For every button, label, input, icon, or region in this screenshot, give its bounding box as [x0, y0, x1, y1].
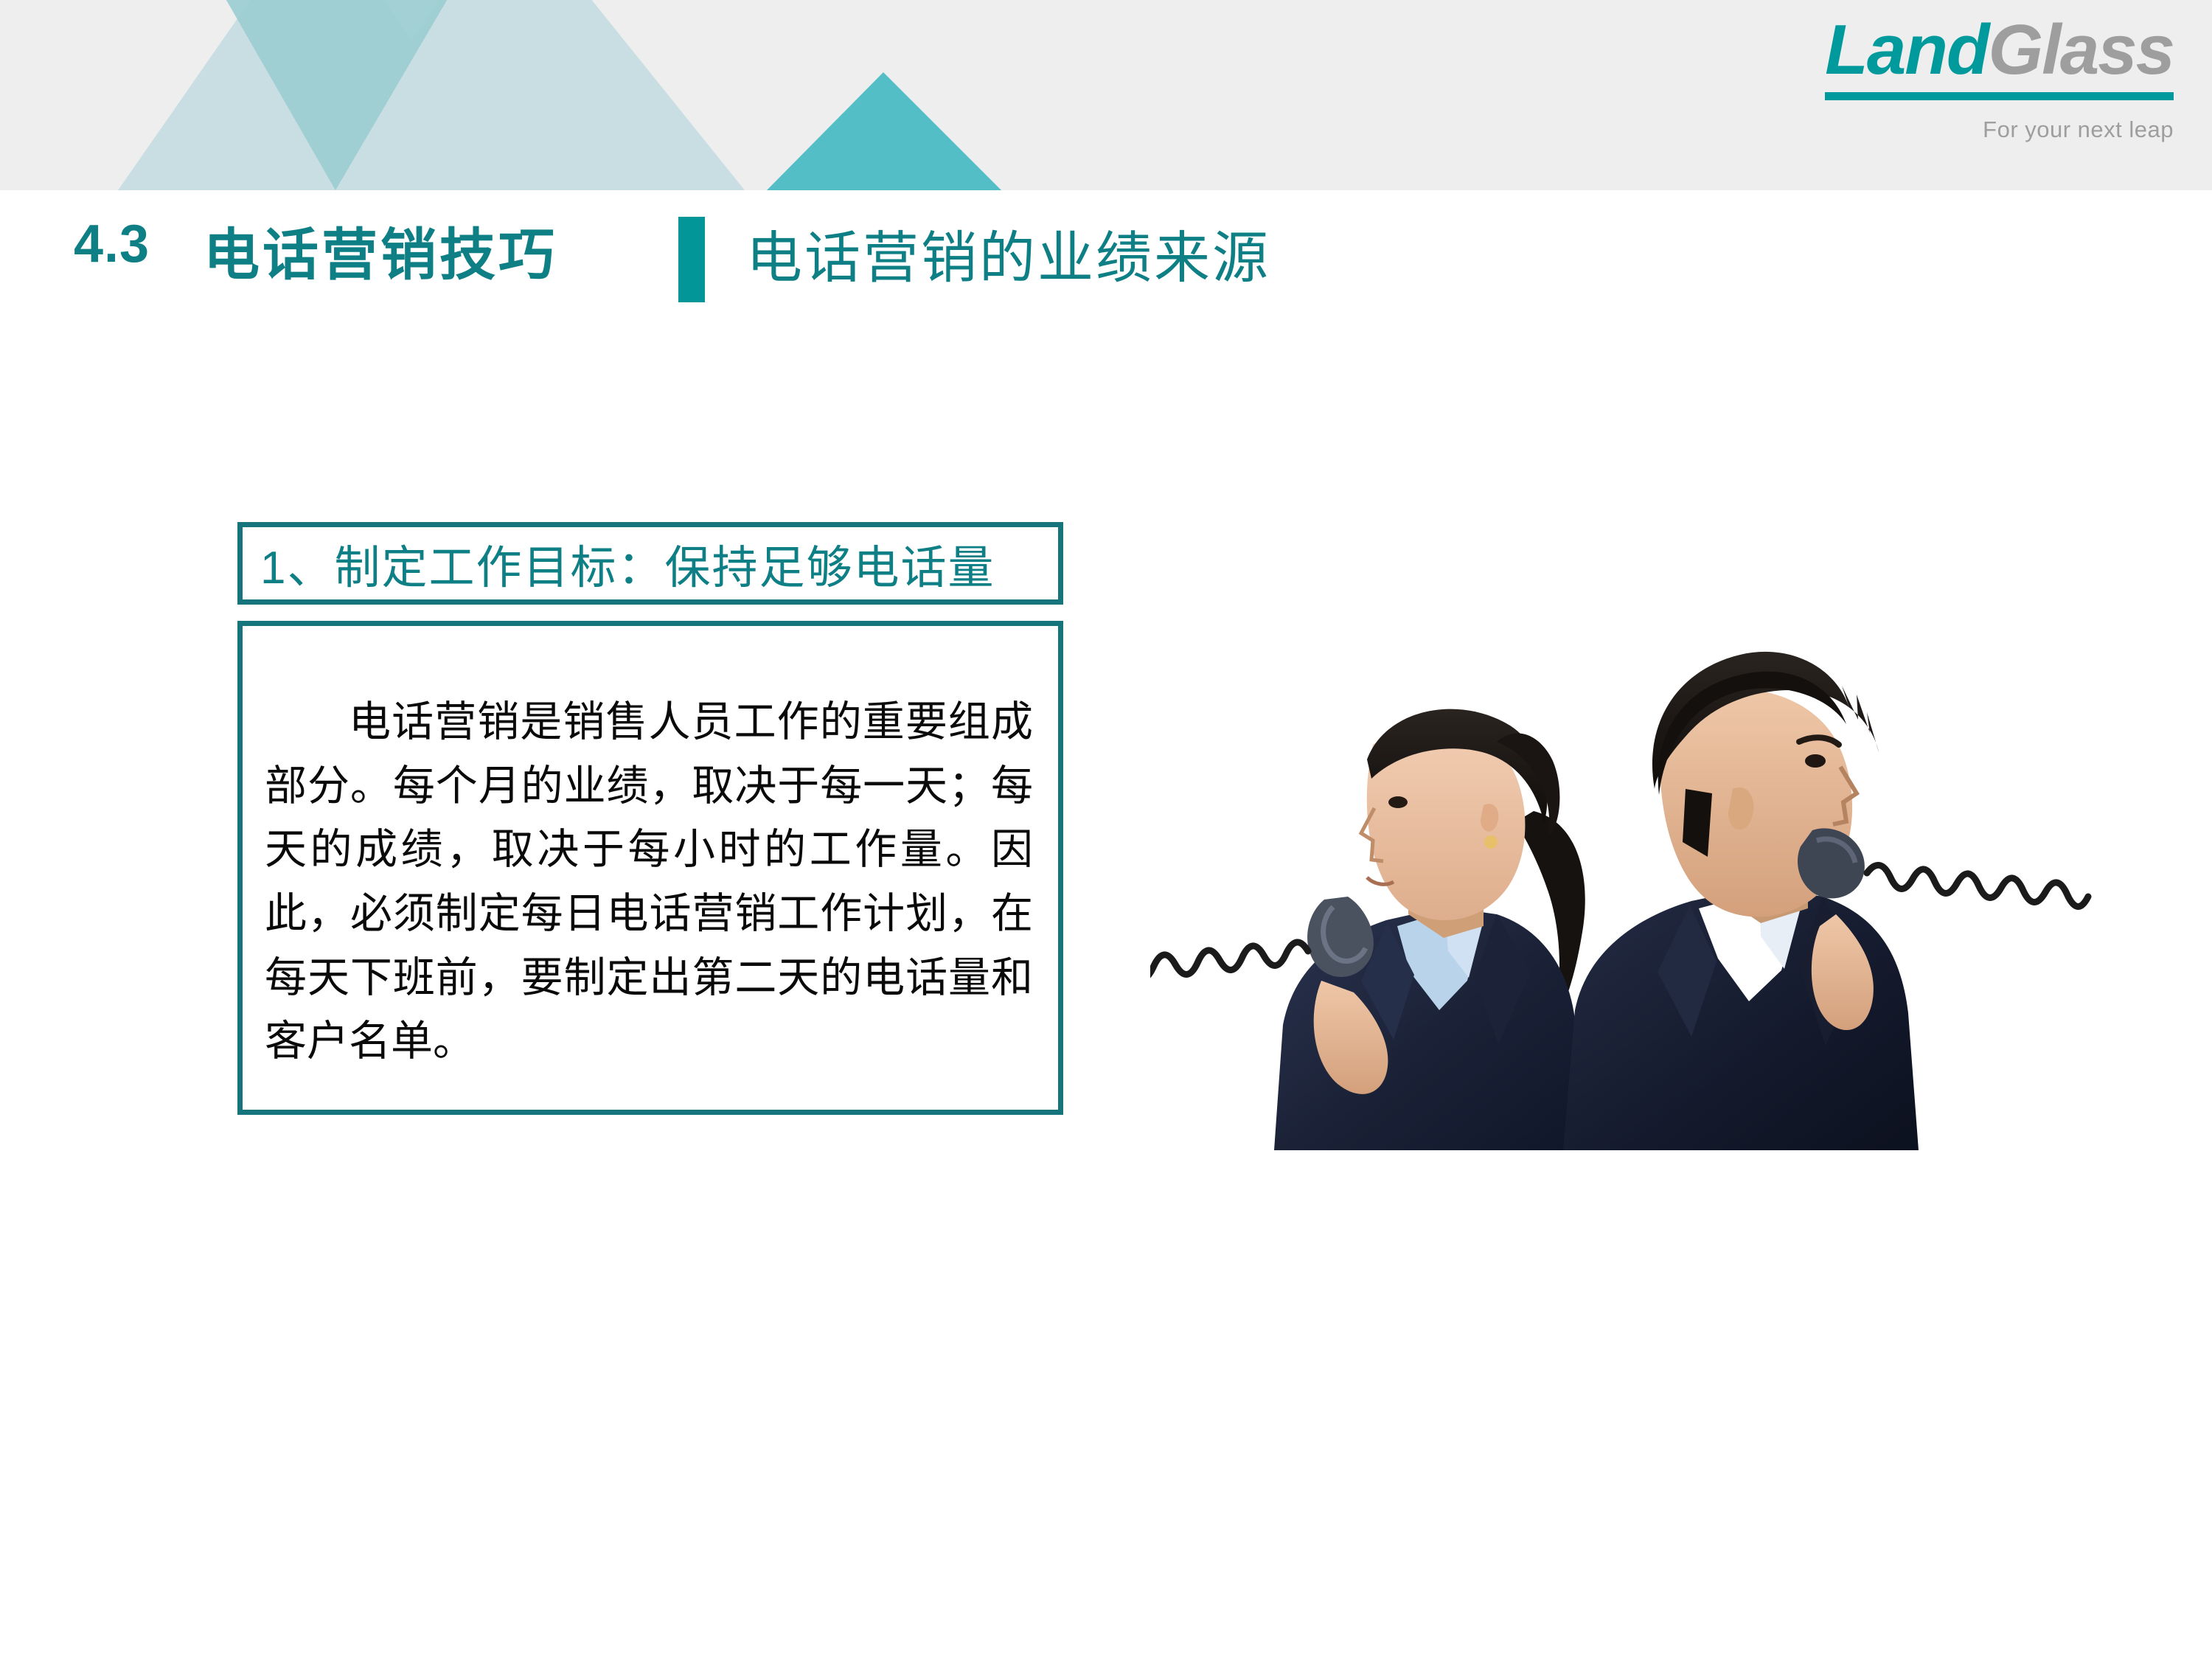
subsection-title: 电话营销的业绩来源: [746, 212, 1270, 293]
photo-illustration: [1150, 568, 2183, 1150]
logo-tagline: For your next leap: [1761, 116, 2174, 143]
photo-two-people-on-phone: [1150, 568, 2183, 1150]
brand-logo: LandGlass For your next leap: [1761, 13, 2174, 143]
slide: LandGlass For your next leap 4.3 电话营销技巧 …: [0, 0, 2212, 1659]
logo-glass-text: Glass: [1988, 10, 2174, 89]
section-title: 电话营销技巧: [204, 209, 557, 291]
body-text: 电话营销是销售人员工作的重要组成部分。每个月的业绩，取决于每一天；每天的成绩，取…: [265, 690, 1033, 1074]
body-box: 电话营销是销售人员工作的重要组成部分。每个月的业绩，取决于每一天；每天的成绩，取…: [237, 621, 1063, 1115]
heading-box: 1、制定工作目标：保持足够电话量: [237, 522, 1063, 605]
title-divider-bar: [678, 217, 705, 302]
bright-up-triangle: [767, 72, 1001, 190]
heading-text: 1、制定工作目标：保持足够电话量: [243, 530, 995, 597]
logo-land-text: Land: [1825, 10, 1988, 89]
section-number: 4.3: [74, 214, 150, 274]
top-banner: LandGlass For your next leap: [0, 0, 2212, 190]
logo-wordmark: LandGlass: [1825, 13, 2174, 100]
